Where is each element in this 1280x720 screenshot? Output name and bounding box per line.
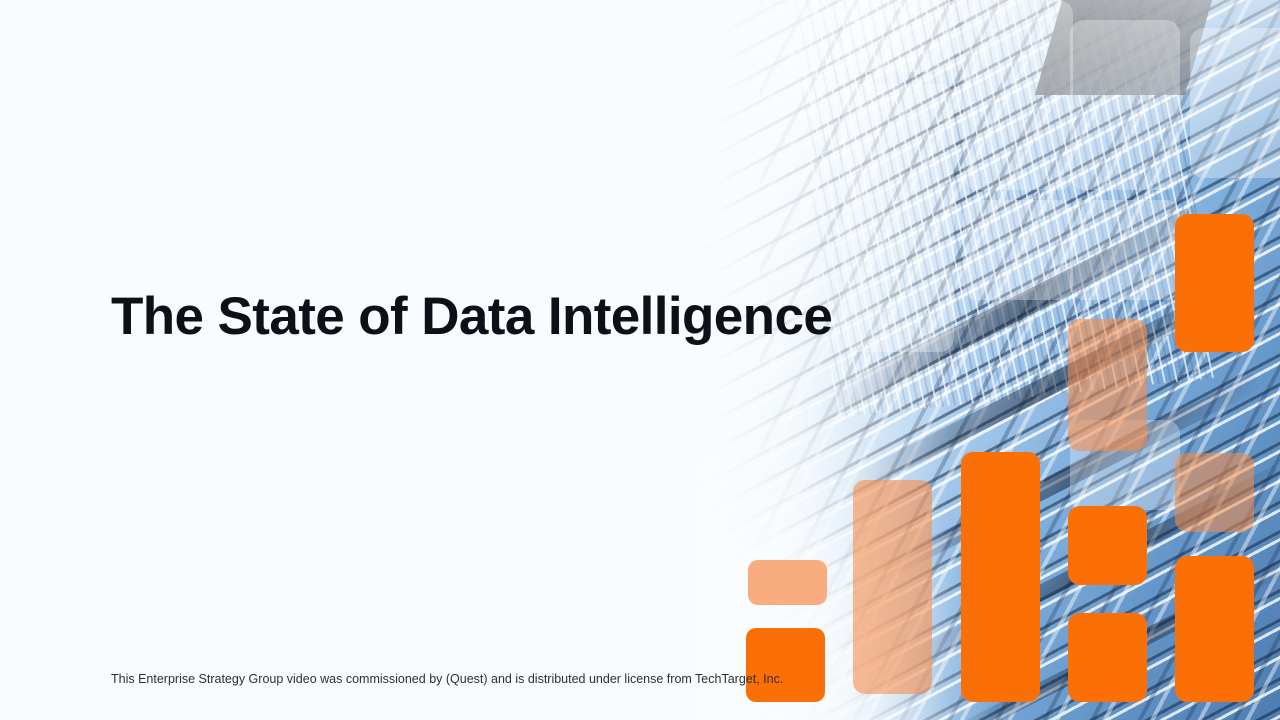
ghost-panel-3 — [963, 0, 1073, 190]
photo-bottomleft-fade — [700, 380, 1000, 720]
page-title: The State of Data Intelligence — [111, 286, 832, 348]
block-translucent-right — [1175, 453, 1254, 532]
block-translucent-tall — [853, 480, 932, 694]
ghost-panel-4 — [1070, 20, 1180, 190]
ghost-panel-7 — [963, 200, 1073, 300]
photo-top-fade — [700, 0, 1280, 150]
attribution-footnote: This Enterprise Strategy Group video was… — [111, 671, 783, 687]
block-translucent-mid — [1068, 319, 1147, 451]
title-slide: The State of Data Intelligence This Ente… — [0, 0, 1280, 720]
ghost-panel-1 — [842, 0, 954, 72]
block-light-small — [748, 560, 827, 605]
ghost-panel-2 — [842, 84, 954, 352]
ghost-panel-6 — [1190, 28, 1280, 178]
block-solid-square-upper — [1068, 506, 1147, 585]
block-solid-top-right — [1175, 214, 1254, 352]
photo-dark-panel — [1035, 0, 1215, 95]
ghost-panel-5 — [1070, 200, 1180, 300]
block-solid-tall — [961, 452, 1040, 702]
block-solid-bottom-right — [1175, 556, 1254, 702]
block-solid-small — [746, 628, 825, 702]
block-solid-square-lower — [1068, 613, 1147, 702]
photo-window-grid — [790, 0, 1214, 418]
